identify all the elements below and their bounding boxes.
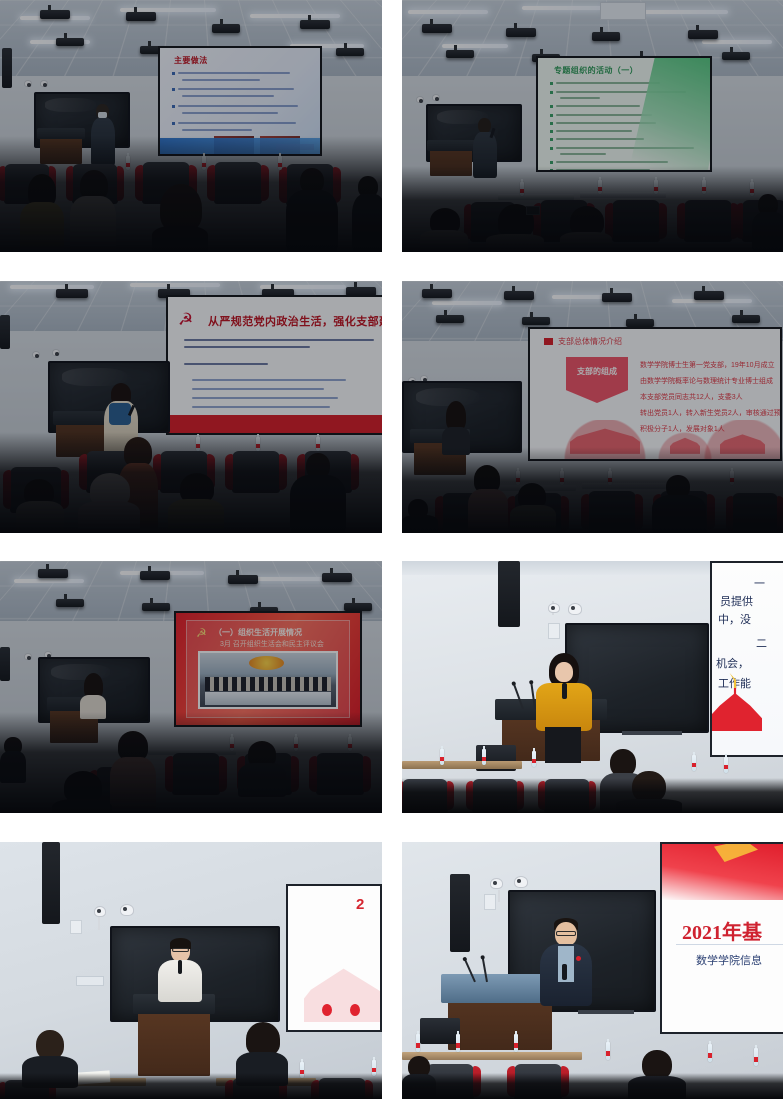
photo-cell-7[interactable]: 2 [0,842,382,1099]
photo-cell-4[interactable]: 支部总体情况介绍 支部的组成 数学学院博士生第一党支部，19年10月成立 由数学… [402,281,783,533]
photo-cell-1[interactable]: 主要做法 [0,0,382,252]
photo-grid: 主要做法 [0,0,783,1099]
lecture-hall-scene-3: ☭ 从严规范党内政治生活，强化支部建设 [0,281,382,533]
lecture-hall-scene-7: 2 [0,842,382,1099]
lecture-hall-scene-8: 2021年基 数学学院信息 [402,842,783,1099]
photo-cell-8[interactable]: 2021年基 数学学院信息 [402,842,783,1099]
photo-cell-3[interactable]: ☭ 从严规范党内政治生活，强化支部建设 [0,281,382,533]
photo-cell-2[interactable]: 专题组织的活动（一） [402,0,783,252]
lecture-hall-scene-5: ☭ （一）组织生活开展情况 3月 召开组织生活会和民主评议会 [0,561,382,813]
lecture-hall-scene-4: 支部总体情况介绍 支部的组成 数学学院博士生第一党支部，19年10月成立 由数学… [402,281,783,533]
photo-cell-5[interactable]: ☭ （一）组织生活开展情况 3月 召开组织生活会和民主评议会 [0,561,382,813]
lecture-hall-scene-6: 一 员提供 中，没 二 机会， 工作能 [402,561,783,813]
photo-cell-6[interactable]: 一 员提供 中，没 二 机会， 工作能 [402,561,783,813]
lecture-hall-scene-1: 主要做法 [0,0,382,252]
lecture-hall-scene-2: 专题组织的活动（一） [402,0,783,252]
